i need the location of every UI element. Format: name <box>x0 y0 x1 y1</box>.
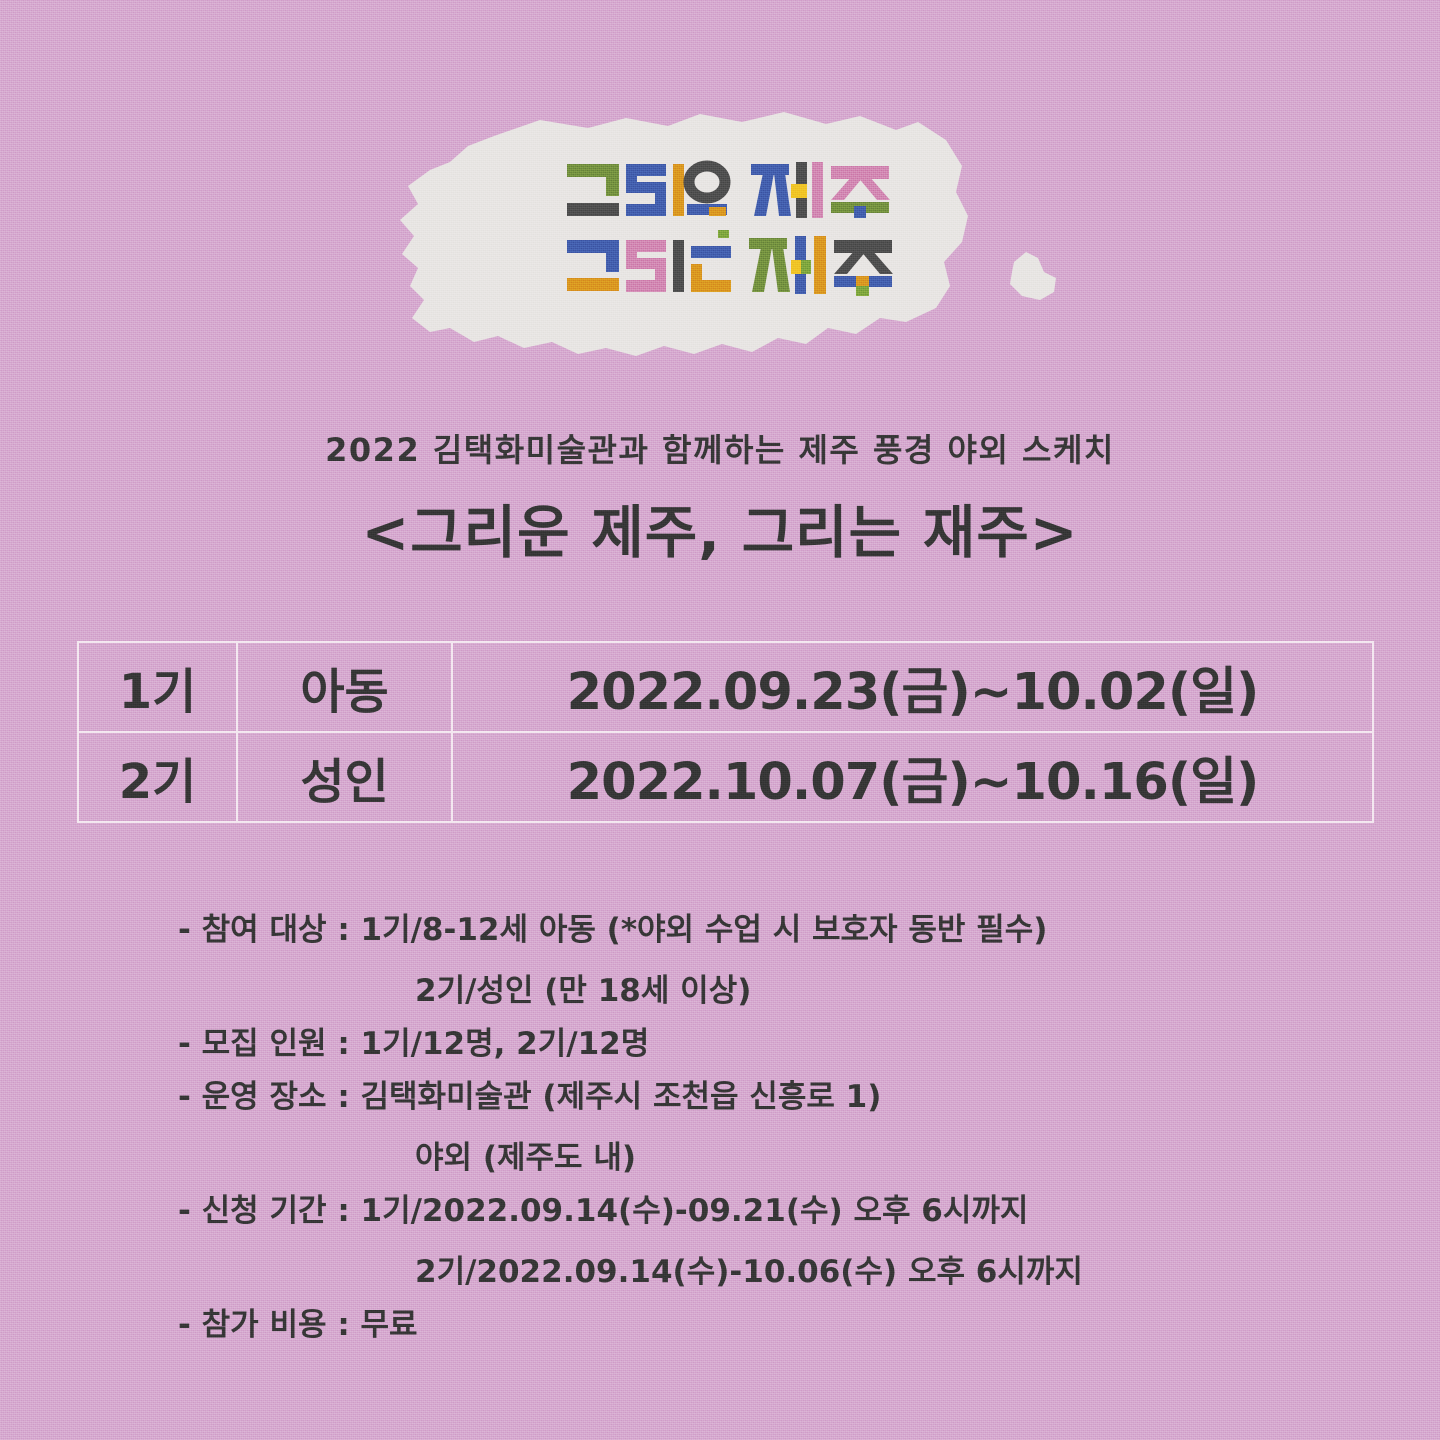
poster-canvas: 2022 김택화미술관과 함께하는 제주 풍경 야외 스케치 <그리운 제주, … <box>0 0 1440 1440</box>
list-item: - 운영 장소 : 김택화미술관 (제주시 조천읍 신흥로 1) <box>0 1082 1440 1113</box>
list-item: 2기/성인 (만 18세 이상) <box>0 976 1440 1007</box>
schedule-dates: 2022.10.07(금)~10.16(일) <box>452 732 1373 822</box>
schedule-dates: 2022.09.23(금)~10.02(일) <box>452 642 1373 732</box>
schedule-audience: 성인 <box>237 732 452 822</box>
schedule-term: 2기 <box>78 732 237 822</box>
list-item: 야외 (제주도 내) <box>0 1143 1440 1174</box>
wordmark-row-2 <box>563 230 903 302</box>
list-item: - 참가 비용 : 무료 <box>0 1310 1440 1341</box>
poster-subtitle: 2022 김택화미술관과 함께하는 제주 풍경 야외 스케치 <box>0 425 1440 471</box>
schedule-term: 1기 <box>78 642 237 732</box>
page-title: <그리운 제주, 그리는 재주> <box>0 487 1440 569</box>
wordmark-row-1 <box>563 158 903 226</box>
logo-wordmark <box>563 158 903 308</box>
list-item: - 참여 대상 : 1기/8-12세 아동 (*야외 수업 시 보호자 동반 필… <box>0 915 1440 946</box>
table-row: 1기 아동 2022.09.23(금)~10.02(일) <box>78 642 1373 732</box>
list-item: - 모집 인원 : 1기/12명, 2기/12명 <box>0 1029 1440 1060</box>
schedule-table: 1기 아동 2022.09.23(금)~10.02(일) 2기 성인 2022.… <box>77 641 1374 823</box>
table-row: 2기 성인 2022.10.07(금)~10.16(일) <box>78 732 1373 822</box>
list-item: - 신청 기간 : 1기/2022.09.14(수)-09.21(수) 오후 6… <box>0 1196 1440 1227</box>
details-list: - 참여 대상 : 1기/8-12세 아동 (*야외 수업 시 보호자 동반 필… <box>0 915 1440 1363</box>
list-item: 2기/2022.09.14(수)-10.06(수) 오후 6시까지 <box>0 1257 1440 1288</box>
schedule-audience: 아동 <box>237 642 452 732</box>
schedule-table-body: 1기 아동 2022.09.23(금)~10.02(일) 2기 성인 2022.… <box>78 642 1373 822</box>
logo-block <box>0 96 1440 396</box>
